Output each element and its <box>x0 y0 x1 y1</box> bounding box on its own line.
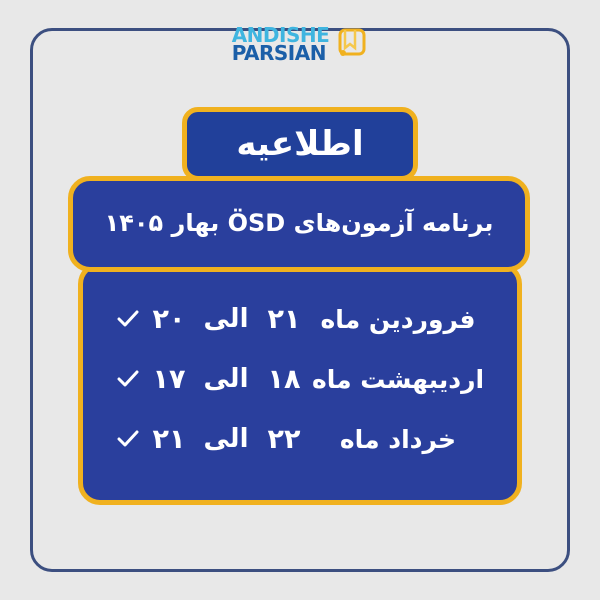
date-month: اردیبهشت ماه <box>311 365 493 394</box>
table-row: ۱۷ الی ۱۸ اردیبهشت ماه <box>83 349 517 409</box>
date-to: ۱۸ <box>257 364 311 395</box>
date-from: ۲۱ <box>143 424 195 455</box>
date-separator: الی <box>195 424 257 454</box>
check-icon <box>113 366 143 392</box>
page-title: اطلاعیه <box>236 124 363 164</box>
check-icon <box>113 426 143 452</box>
subtitle-text: برنامه آزمون‌های ÖSD بهار ۱۴۰۵ <box>91 208 508 239</box>
date-from: ۱۷ <box>143 364 195 395</box>
date-month: فروردین ماه <box>311 305 493 334</box>
title-banner: اطلاعیه <box>182 107 418 181</box>
date-separator: الی <box>195 304 257 334</box>
date-from: ۲۰ <box>143 304 195 335</box>
brand-header: ANDISHE PARSIAN <box>0 16 600 72</box>
table-row: ۲۱ الی ۲۲ خرداد ماه <box>83 409 517 469</box>
subtitle-banner: برنامه آزمون‌های ÖSD بهار ۱۴۰۵ <box>68 176 530 272</box>
date-to: ۲۱ <box>257 304 311 335</box>
book-icon <box>334 26 368 64</box>
date-to: ۲۲ <box>257 424 311 455</box>
brand-line-parsian: PARSIAN <box>232 44 326 62</box>
exam-dates-card: ۲۰ الی ۲۱ فروردین ماه ۱۷ الی ۱۸ اردیبهشت… <box>78 262 522 505</box>
check-icon <box>113 306 143 332</box>
table-row: ۲۰ الی ۲۱ فروردین ماه <box>83 289 517 349</box>
date-separator: الی <box>195 364 257 394</box>
brand-wordmark: ANDISHE PARSIAN <box>232 26 330 63</box>
date-month: خرداد ماه <box>311 425 493 454</box>
